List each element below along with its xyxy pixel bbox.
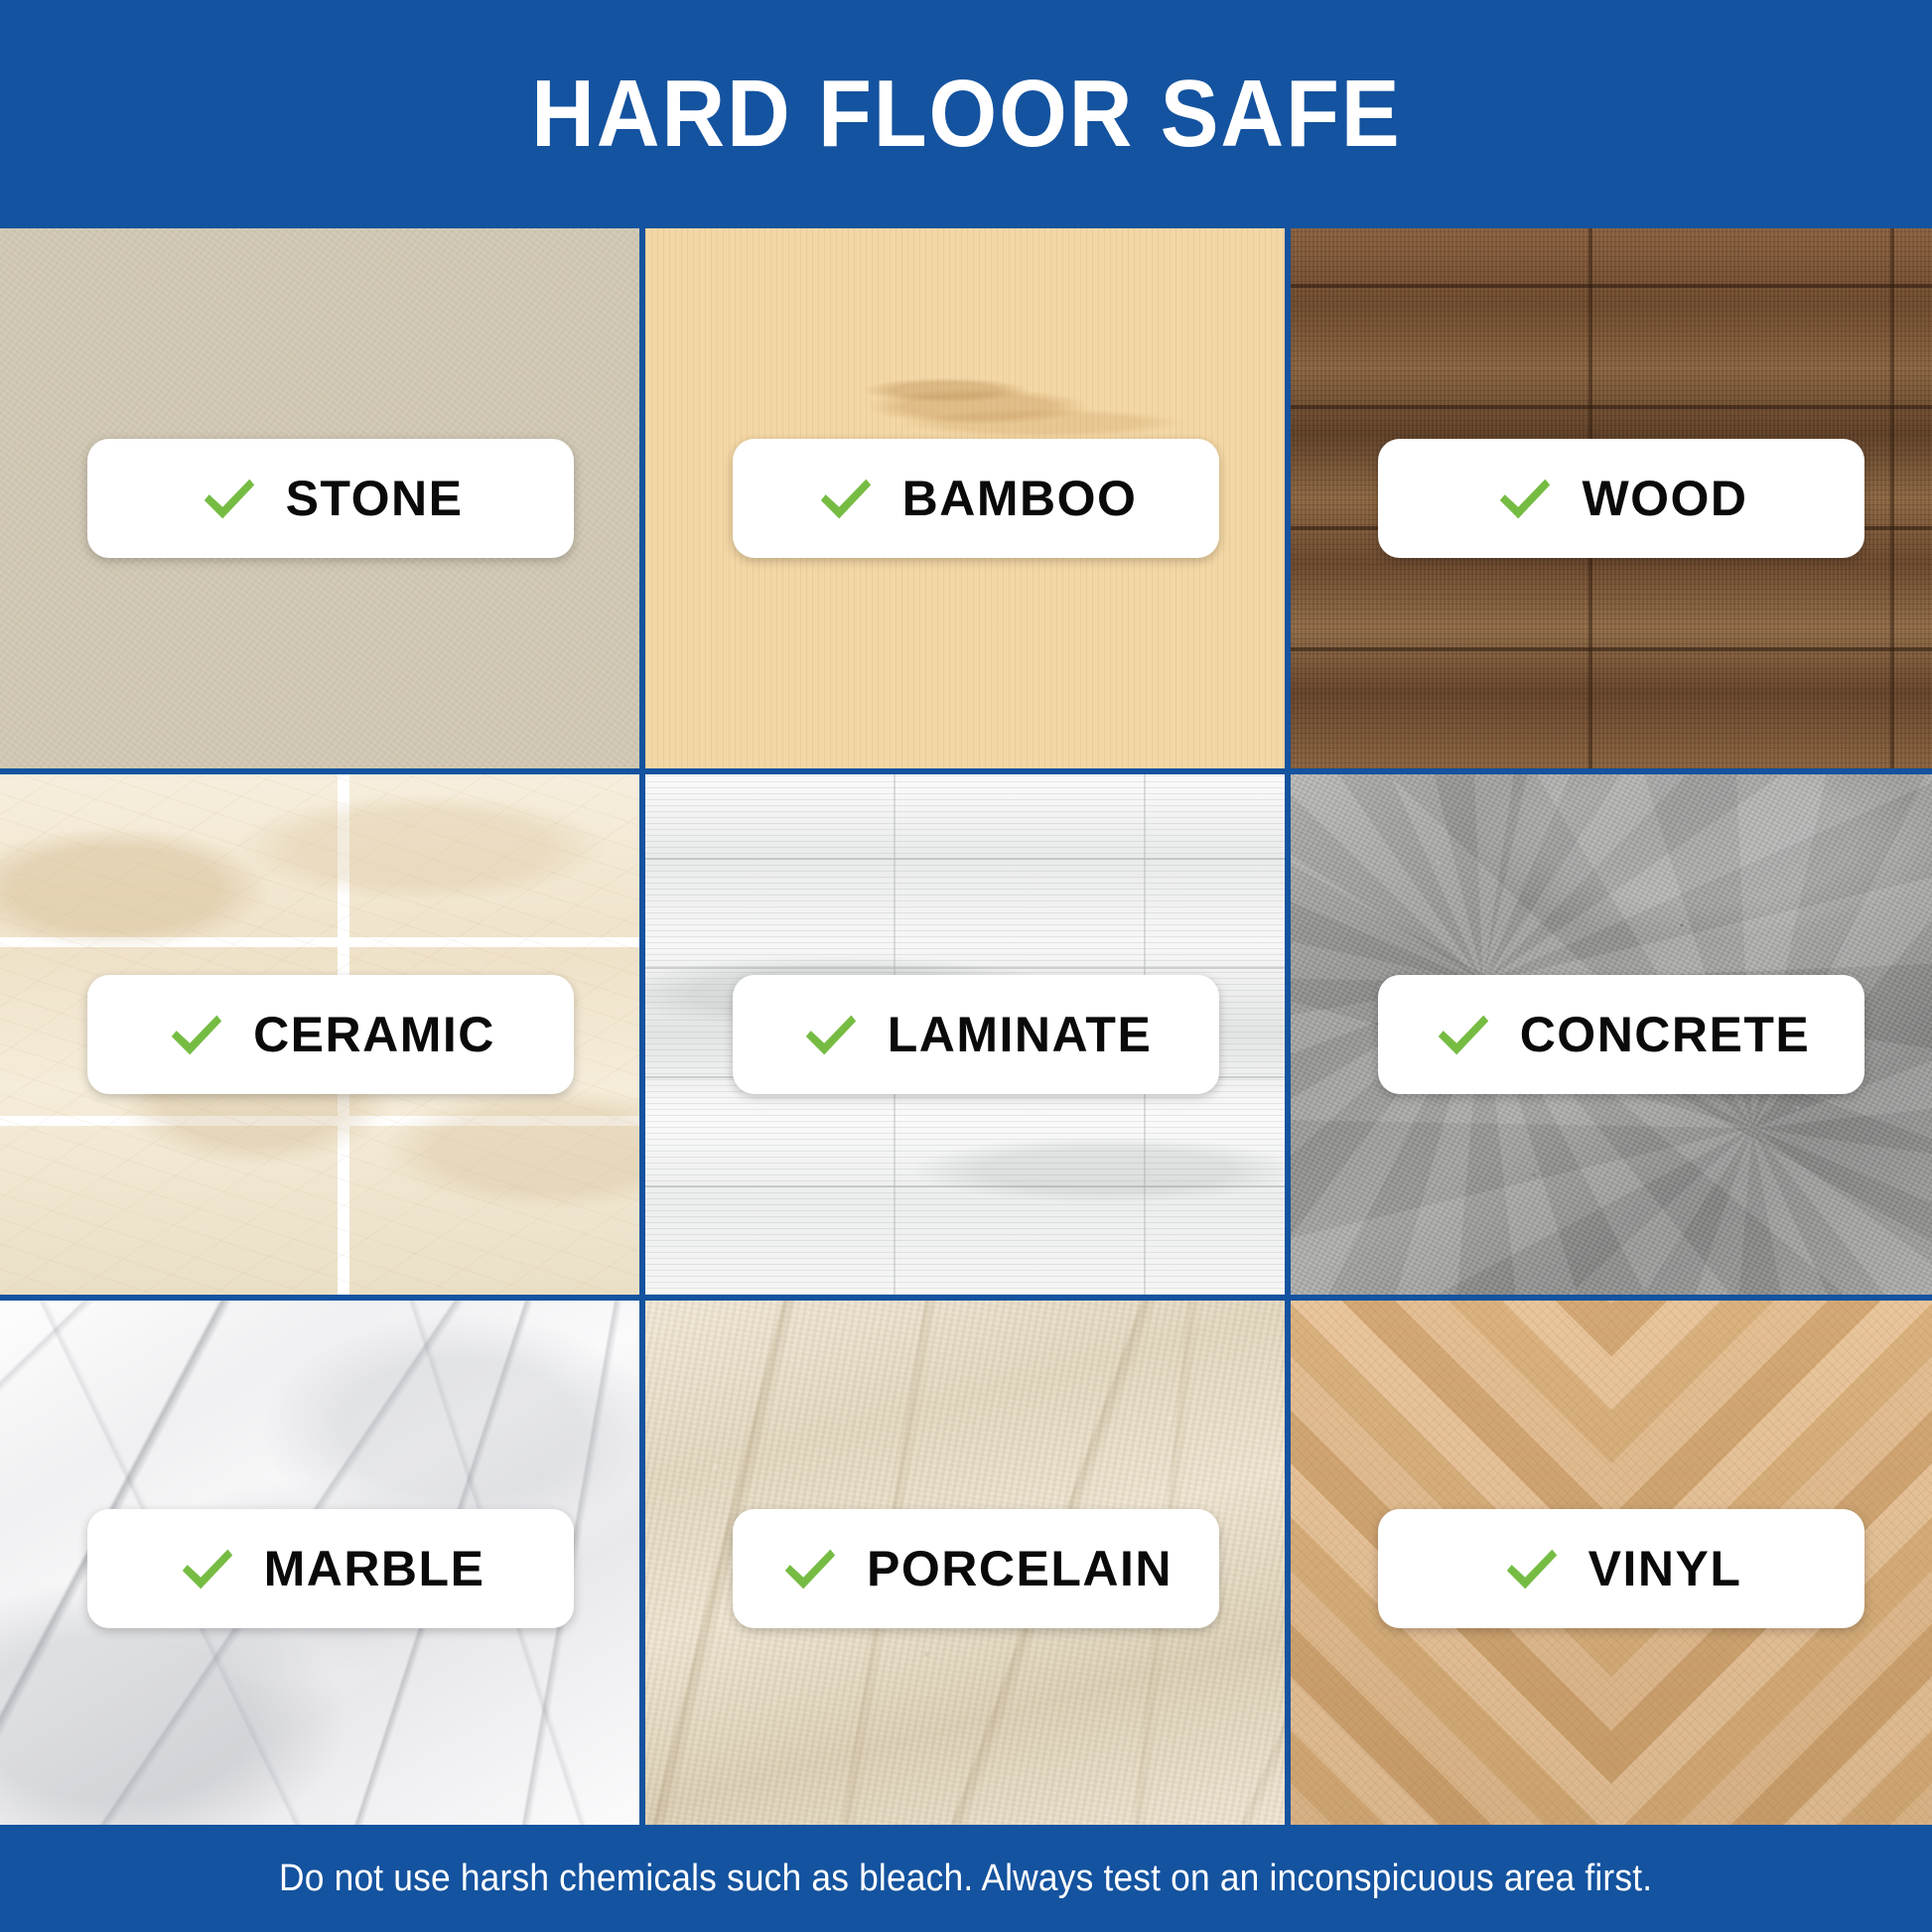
floor-label-pill-wood[interactable]: WOOD <box>1378 439 1864 558</box>
floor-cell-vinyl[interactable]: VINYL <box>1291 1301 1932 1837</box>
check-icon <box>800 1004 862 1065</box>
floor-label-pill-porcelain[interactable]: PORCELAIN <box>733 1509 1219 1628</box>
floor-label-text: STONE <box>286 474 464 523</box>
floor-cell-ceramic[interactable]: CERAMIC <box>0 774 639 1295</box>
check-icon <box>177 1538 238 1599</box>
check-icon <box>1501 1538 1563 1599</box>
floor-label-text: PORCELAIN <box>867 1544 1173 1593</box>
floor-cell-bamboo[interactable]: BAMBOO <box>645 228 1285 768</box>
floor-label-pill-stone[interactable]: STONE <box>87 439 574 558</box>
floor-cell-marble[interactable]: MARBLE <box>0 1301 639 1837</box>
floor-label-pill-marble[interactable]: MARBLE <box>87 1509 574 1628</box>
floor-label-pill-laminate[interactable]: LAMINATE <box>733 975 1219 1094</box>
floor-label-text: MARBLE <box>264 1544 485 1593</box>
floor-cell-stone[interactable]: STONE <box>0 228 639 768</box>
footer-banner: Do not use harsh chemicals such as bleac… <box>0 1825 1932 1932</box>
header-banner: HARD FLOOR SAFE <box>0 0 1932 228</box>
hard-floor-safe-infographic: HARD FLOOR SAFE STONE BAMBOO <box>0 0 1932 1932</box>
floor-label-pill-bamboo[interactable]: BAMBOO <box>733 439 1219 558</box>
floor-type-grid: STONE BAMBOO WOOD <box>0 228 1932 1825</box>
floor-label-text: LAMINATE <box>888 1010 1153 1059</box>
floor-label-text: CERAMIC <box>253 1010 495 1059</box>
check-icon <box>199 468 260 529</box>
check-icon <box>779 1538 841 1599</box>
floor-cell-laminate[interactable]: LAMINATE <box>645 774 1285 1295</box>
check-icon <box>815 468 877 529</box>
floor-label-text: WOOD <box>1582 474 1747 523</box>
check-icon <box>166 1004 227 1065</box>
floor-label-pill-concrete[interactable]: CONCRETE <box>1378 975 1864 1094</box>
floor-cell-wood[interactable]: WOOD <box>1291 228 1932 768</box>
floor-label-text: CONCRETE <box>1520 1010 1811 1059</box>
floor-label-text: VINYL <box>1588 1544 1742 1593</box>
floor-label-text: BAMBOO <box>902 474 1138 523</box>
page-title: HARD FLOOR SAFE <box>531 67 1401 162</box>
check-icon <box>1433 1004 1494 1065</box>
check-icon <box>1494 468 1556 529</box>
disclaimer-text: Do not use harsh chemicals such as bleac… <box>279 1858 1652 1900</box>
floor-cell-porcelain[interactable]: PORCELAIN <box>645 1301 1285 1837</box>
floor-label-pill-ceramic[interactable]: CERAMIC <box>87 975 574 1094</box>
floor-label-pill-vinyl[interactable]: VINYL <box>1378 1509 1864 1628</box>
floor-cell-concrete[interactable]: CONCRETE <box>1291 774 1932 1295</box>
